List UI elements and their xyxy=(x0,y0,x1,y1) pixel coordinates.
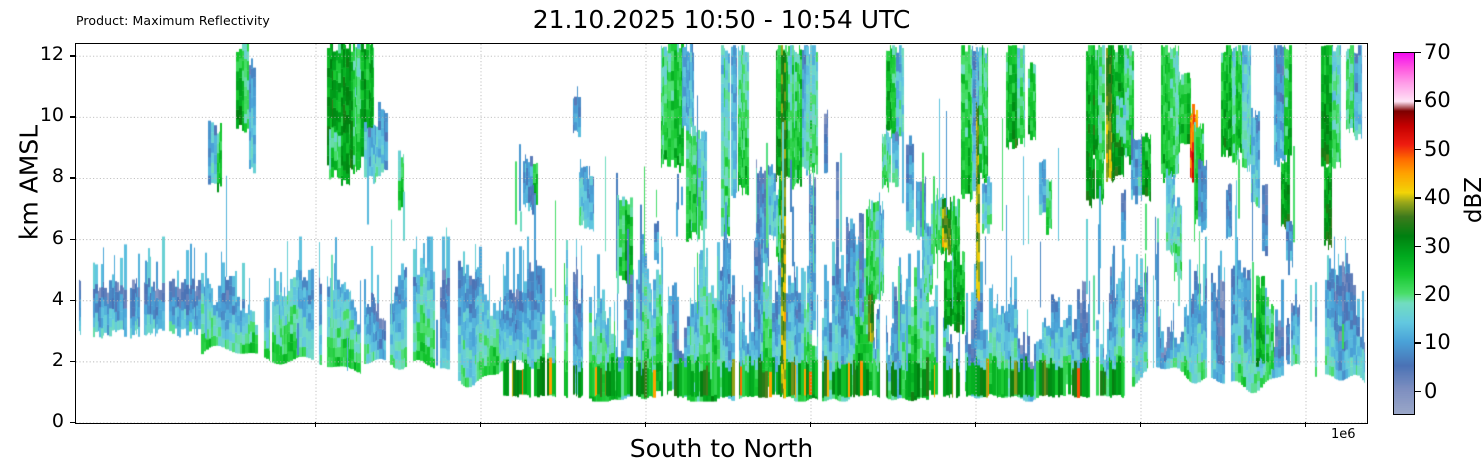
colorbar-tick-label: 10 xyxy=(1424,330,1451,354)
x-tick-mark xyxy=(975,422,976,427)
colorbar-tick-mark xyxy=(1415,52,1421,53)
page-title: 21.10.2025 10:50 - 10:54 UTC xyxy=(75,5,1368,34)
x-tick-mark xyxy=(480,422,481,427)
y-tick-mark xyxy=(70,300,75,301)
colorbar-tick-mark xyxy=(1415,391,1421,392)
y-tick-label: 0 xyxy=(52,412,64,431)
colorbar-tick-mark xyxy=(1415,149,1421,150)
y-tick-mark xyxy=(70,361,75,362)
radar-cross-section-figure: Product: Maximum Reflectivity 21.10.2025… xyxy=(0,0,1482,470)
x-axis-offset-text: 1e6 xyxy=(1331,427,1356,442)
colorbar-tick-label: 0 xyxy=(1424,379,1437,403)
y-axis-label: km AMSL xyxy=(15,118,44,248)
y-tick-mark xyxy=(70,55,75,56)
colorbar-tick-mark xyxy=(1415,100,1421,101)
y-tick-mark xyxy=(70,177,75,178)
colorbar xyxy=(1393,52,1415,415)
x-axis-label: South to North xyxy=(75,434,1368,463)
colorbar-tick-label: 40 xyxy=(1424,185,1451,209)
y-tick-label: 4 xyxy=(52,290,64,309)
y-tick-label: 2 xyxy=(52,351,64,370)
colorbar-tick-mark xyxy=(1415,246,1421,247)
colorbar-tick-label: 60 xyxy=(1424,88,1451,112)
y-tick-mark xyxy=(70,116,75,117)
y-tick-label: 8 xyxy=(52,167,64,186)
colorbar-tick-label: 50 xyxy=(1424,137,1451,161)
reflectivity-heatmap xyxy=(76,44,1367,423)
colorbar-tick-mark xyxy=(1415,197,1421,198)
x-tick-mark xyxy=(810,422,811,427)
colorbar-tick-mark xyxy=(1415,342,1421,343)
x-tick-mark xyxy=(1305,422,1306,427)
colorbar-tick-label: 30 xyxy=(1424,234,1451,258)
x-tick-mark xyxy=(1140,422,1141,427)
colorbar-gradient xyxy=(1393,52,1415,415)
y-tick-label: 12 xyxy=(40,45,64,64)
y-tick-mark xyxy=(70,239,75,240)
x-tick-mark xyxy=(315,422,316,427)
plot-area xyxy=(75,43,1368,424)
colorbar-tick-label: 20 xyxy=(1424,282,1451,306)
x-tick-mark xyxy=(645,422,646,427)
y-tick-label: 10 xyxy=(40,106,64,125)
colorbar-tick-mark xyxy=(1415,294,1421,295)
colorbar-tick-label: 70 xyxy=(1424,40,1451,64)
y-tick-mark xyxy=(70,422,75,423)
colorbar-unit-label: dBZ xyxy=(1461,140,1482,260)
y-tick-label: 6 xyxy=(52,229,64,248)
